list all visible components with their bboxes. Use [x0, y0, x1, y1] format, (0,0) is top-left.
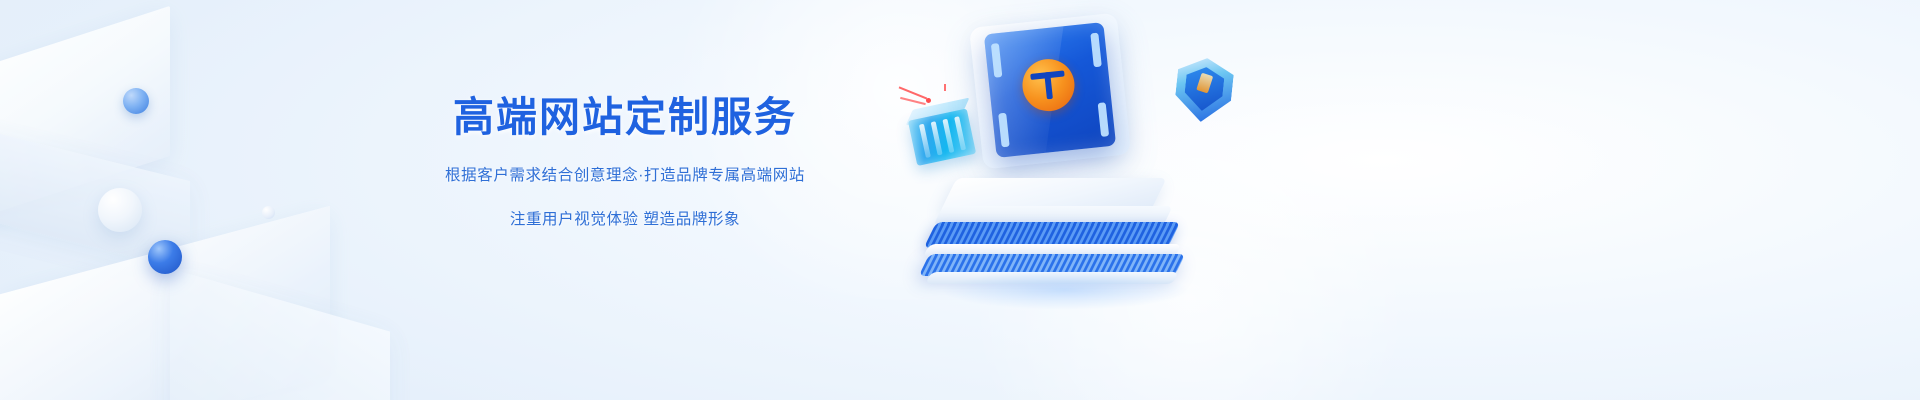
platform-top-shape: [0, 6, 170, 224]
sphere-blue-icon: [148, 240, 182, 274]
sphere-small-blue-icon: [123, 88, 149, 114]
accent-tick: [944, 84, 946, 91]
slab-glow: [940, 270, 1190, 310]
hero-illustration: [880, 0, 1300, 400]
cube-slit-1: [919, 124, 931, 158]
shield-badge-icon: [1173, 55, 1235, 125]
platform-lower-shape: [0, 206, 330, 400]
sphere-white-icon: [98, 188, 142, 232]
small-cyan-cube-icon: [907, 106, 978, 168]
hero-banner: 高端网站定制服务 根据客户需求结合创意理念·打造品牌专属高端网站 注重用户视觉体…: [0, 0, 1920, 400]
accent-line-2: [900, 97, 926, 105]
hero-subtitle-line-2: 注重用户视觉体验 塑造品牌形象: [400, 207, 850, 229]
platform-lower-secondary-shape: [170, 268, 390, 400]
cube-slit-3: [942, 119, 954, 153]
blue-logo-card: [984, 22, 1116, 158]
card-bracket-top-right: [1090, 33, 1102, 68]
page-title: 高端网站定制服务: [400, 96, 850, 139]
layered-stack-slab: [920, 178, 1180, 298]
card-bracket-bottom-right: [1098, 102, 1110, 137]
hero-text-block: 高端网站定制服务 根据客户需求结合创意理念·打造品牌专属高端网站 注重用户视觉体…: [400, 96, 850, 229]
cube-slit-2: [931, 121, 943, 155]
hero-subtitle-line-1: 根据客户需求结合创意理念·打造品牌专属高端网站: [400, 163, 850, 185]
sphere-tiny-icon: [262, 206, 275, 219]
platform-middle-shape: [0, 119, 190, 271]
card-front-face: [984, 22, 1116, 158]
cube-slit-4: [954, 116, 966, 150]
accent-dot: [926, 98, 931, 103]
